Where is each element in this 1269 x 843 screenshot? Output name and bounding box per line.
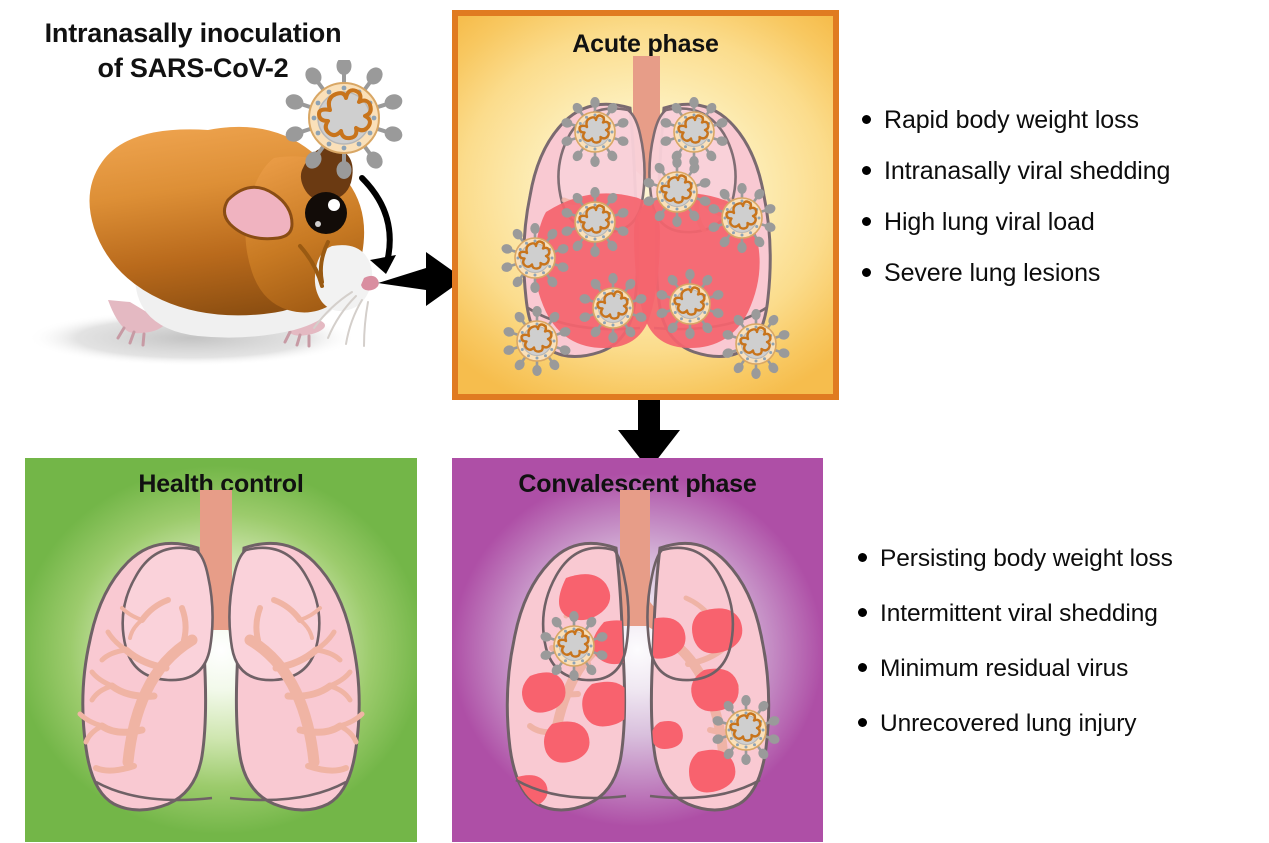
list-item: Intranasally viral shedding — [862, 157, 1170, 186]
acute-findings-list: Rapid body weight loss Intranasally vira… — [862, 106, 1170, 310]
lungs-healthy-illustration — [42, 490, 400, 838]
bullet-icon — [858, 553, 867, 562]
lesion-patch — [652, 721, 683, 749]
lungs-convalescent-illustration — [468, 490, 808, 838]
bullet-icon — [862, 166, 871, 175]
hamster-eye — [305, 192, 347, 234]
bullet-icon — [862, 115, 871, 124]
list-item: Intermittent viral shedding — [858, 600, 1173, 628]
figure-canvas: Intranasally inoculation of SARS-CoV-2 — [0, 0, 1269, 842]
hamster-eye-highlight-small — [315, 221, 321, 227]
panel-title-acute: Acute phase — [458, 30, 833, 59]
bullet-icon — [858, 663, 867, 672]
list-item: High lung viral load — [862, 208, 1170, 237]
lungs-acute-illustration — [468, 56, 824, 396]
bullet-icon — [858, 718, 867, 727]
hamster-eye-highlight — [328, 199, 340, 211]
bullet-icon — [862, 217, 871, 226]
list-item: Minimum residual virus — [858, 655, 1173, 683]
list-item: Rapid body weight loss — [862, 106, 1170, 135]
hamster-illustration — [12, 60, 412, 400]
title-line-1: Intranasally inoculation — [8, 16, 378, 51]
convalescent-findings-list: Persisting body weight loss Intermittent… — [858, 545, 1173, 765]
list-item: Unrecovered lung injury — [858, 710, 1173, 738]
bullet-icon — [862, 268, 871, 277]
list-item: Severe lung lesions — [862, 259, 1170, 288]
bullet-icon — [858, 608, 867, 617]
list-item: Persisting body weight loss — [858, 545, 1173, 573]
